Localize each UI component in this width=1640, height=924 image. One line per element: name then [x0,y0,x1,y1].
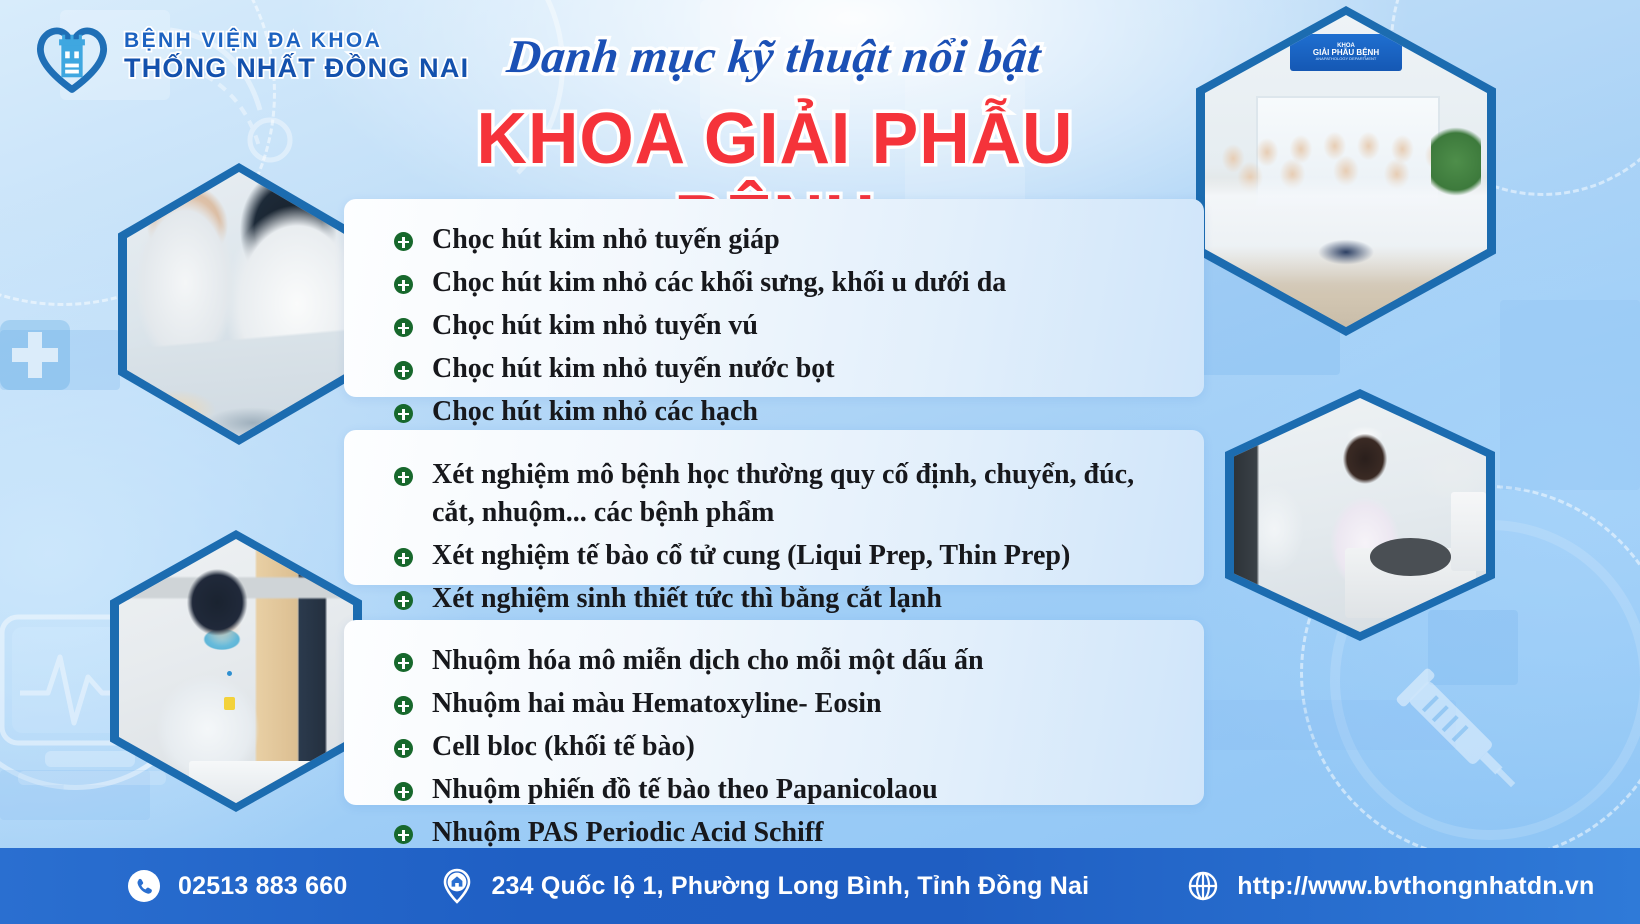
list-item-label: Nhuộm hai màu Hematoxyline- Eosin [432,688,882,719]
photo-lab [1225,389,1495,641]
decor-box [0,330,120,390]
id-badge [224,697,235,710]
list-item-label: Nhuộm hóa mô miễn dịch cho mỗi một dấu ấ… [432,645,984,676]
plus-circle-icon [394,825,413,844]
footer-phone-label: 02513 883 660 [178,872,347,901]
panel-testing: Xét nghiệm mô bệnh học thường quy cố địn… [344,430,1204,585]
medical-cross-icon [0,320,70,390]
list-item-label: Chọc hút kim nhỏ tuyến vú [432,310,758,341]
lab-device [1451,492,1486,572]
phone-icon [126,868,162,904]
poster-subtitle: Danh mục kỹ thuật nổi bật [391,30,1157,84]
list-item: Chọc hút kim nhỏ tuyến vú [394,307,1174,345]
plus-circle-icon [394,739,413,758]
list-item-label: Chọc hút kim nhỏ tuyến giáp [432,224,780,255]
plus-circle-icon [394,275,413,294]
footer-website-label: http://www.bvthongnhatdn.vn [1237,872,1594,901]
photo-team-image: KHOA GIẢI PHẪU BỆNH ANAPATHOLOGY DEPARTM… [1205,15,1487,327]
decor-box [1500,300,1640,490]
list-item-label: Xét nghiệm tế bào cổ tử cung (Liqui Prep… [432,540,1070,571]
plus-circle-icon [394,591,413,610]
hospital-heart-tower-logo [34,18,110,94]
list-item: Nhuộm PAS Periodic Acid Schiff [394,814,1174,852]
list-item-label: Nhuộm PAS Periodic Acid Schiff [432,817,823,848]
list-item-label: Xét nghiệm sinh thiết tức thì bằng cắt l… [432,583,942,614]
list-item: Chọc hút kim nhỏ tuyến giáp [394,221,1174,259]
list-item-label: Chọc hút kim nhỏ các khối sưng, khối u d… [432,267,1006,298]
plus-circle-icon [394,696,413,715]
footer-website[interactable]: http://www.bvthongnhatdn.vn [1185,868,1594,904]
badge-logo [227,671,232,676]
footer-address: 234 Quốc lộ 1, Phường Long Bình, Tỉnh Đồ… [439,868,1089,904]
photo-ultrasound [118,163,360,445]
workstation [189,761,334,803]
list-item: Cell bloc (khối tế bào) [394,728,1174,766]
plus-circle-icon [394,467,413,486]
list-item: Xét nghiệm sinh thiết tức thì bằng cắt l… [394,580,1174,618]
plus-circle-icon [394,361,413,380]
list-item: Nhuộm hóa mô miễn dịch cho mỗi một dấu ấ… [394,642,1174,680]
decor-box [1428,610,1518,685]
panel-testing-list: Xét nghiệm mô bệnh học thường quy cố địn… [394,456,1174,618]
decor-box [0,770,150,820]
plus-circle-icon [394,782,413,801]
contact-footer: 02513 883 660 234 Quốc lộ 1, Phường Long… [0,848,1640,924]
plus-circle-icon [394,318,413,337]
plus-circle-icon [394,404,413,423]
list-item-label: Chọc hút kim nhỏ các hạch [432,396,758,427]
list-item: Chọc hút kim nhỏ các khối sưng, khối u d… [394,264,1174,302]
list-item-label: Xét nghiệm mô bệnh học thường quy cố địn… [432,459,1134,528]
footer-address-label: 234 Quốc lộ 1, Phường Long Bình, Tỉnh Đồ… [491,872,1089,901]
plant [1431,121,1482,202]
plus-circle-icon [394,653,413,672]
decor-box [1196,700,1456,750]
list-item-label: Cell bloc (khối tế bào) [432,731,695,762]
photo-doctor-image [119,539,353,803]
location-pin-home-icon [439,868,475,904]
list-item: Xét nghiệm mô bệnh học thường quy cố địn… [394,456,1174,532]
globe-icon [1185,868,1221,904]
photo-lab-image [1234,398,1486,632]
list-item: Nhuộm hai màu Hematoxyline- Eosin [394,685,1174,723]
microtome-disc [1370,538,1451,575]
list-item: Xét nghiệm tế bào cổ tử cung (Liqui Prep… [394,537,1174,575]
list-item-label: Chọc hút kim nhỏ tuyến nước bọt [432,353,835,384]
photo-team: KHOA GIẢI PHẪU BỆNH ANAPATHOLOGY DEPARTM… [1196,6,1496,336]
photo-ultrasound-image [127,172,351,436]
syringe-icon [1385,640,1555,810]
infographic-poster: BỆNH VIỆN ĐA KHOA THỐNG NHẤT ĐỒNG NAI Da… [0,0,1640,924]
panel-staining: Nhuộm hóa mô miễn dịch cho mỗi một dấu ấ… [344,620,1204,805]
list-item-label: Nhuộm phiến đồ tế bào theo Papanicolaou [432,774,938,805]
panel-aspiration: Chọc hút kim nhỏ tuyến giáp Chọc hút kim… [344,199,1204,397]
plus-circle-icon [394,548,413,567]
footer-phone[interactable]: 02513 883 660 [126,868,347,904]
list-item: Nhuộm phiến đồ tế bào theo Papanicolaou [394,771,1174,809]
plus-circle-icon [394,232,413,251]
list-item: Chọc hút kim nhỏ tuyến nước bọt [394,350,1174,388]
panel-staining-list: Nhuộm hóa mô miễn dịch cho mỗi một dấu ấ… [394,642,1174,852]
list-item: Chọc hút kim nhỏ các hạch [394,393,1174,431]
photo-doctor [110,530,362,812]
